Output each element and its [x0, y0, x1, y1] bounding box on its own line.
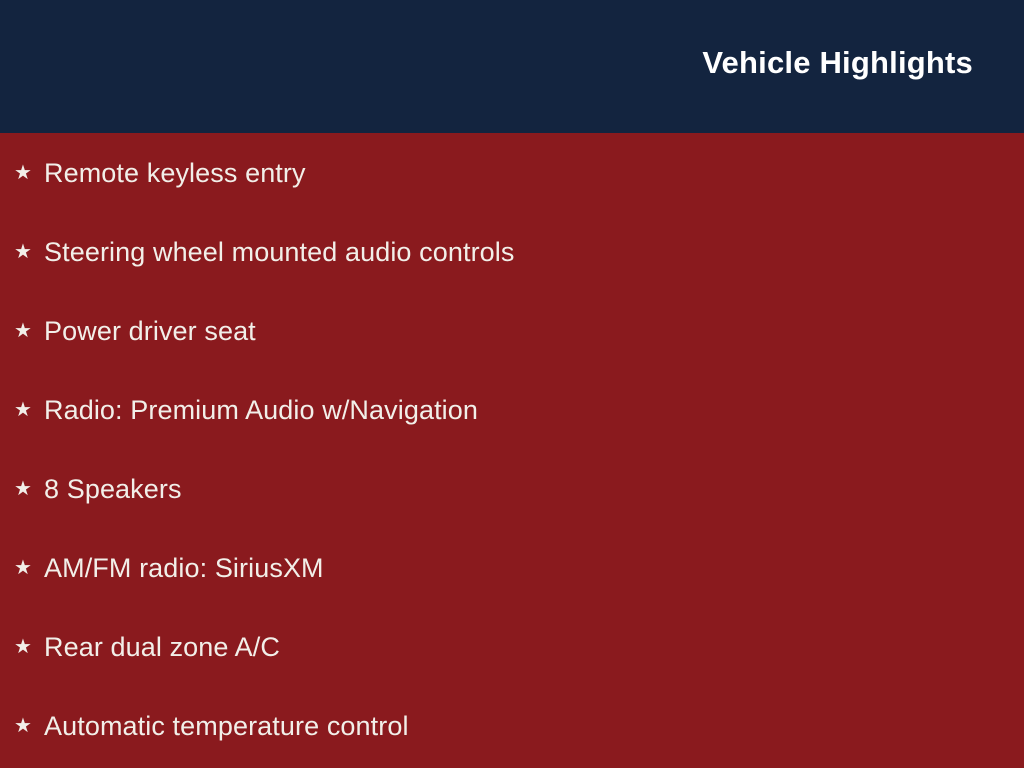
page-title: Vehicle Highlights — [702, 44, 973, 82]
highlights-list: ★ Remote keyless entry ★ Steering wheel … — [0, 133, 1024, 765]
list-item-label: Automatic temperature control — [44, 709, 409, 743]
star-bullet-icon: ★ — [14, 163, 44, 183]
list-item: ★ Steering wheel mounted audio controls — [0, 212, 1024, 291]
list-item: ★ Remote keyless entry — [0, 133, 1024, 212]
list-item-label: Power driver seat — [44, 314, 256, 348]
star-bullet-icon: ★ — [14, 637, 44, 657]
list-item-label: Rear dual zone A/C — [44, 630, 280, 664]
star-bullet-icon: ★ — [14, 558, 44, 578]
highlights-body: ★ Remote keyless entry ★ Steering wheel … — [0, 133, 1024, 768]
list-item-label: AM/FM radio: SiriusXM — [44, 551, 324, 585]
list-item-label: Remote keyless entry — [44, 156, 306, 190]
list-item: ★ Rear dual zone A/C — [0, 607, 1024, 686]
star-bullet-icon: ★ — [14, 321, 44, 341]
vehicle-highlights-slide: Vehicle Highlights ★ Remote keyless entr… — [0, 0, 1024, 768]
header-band: Vehicle Highlights — [0, 0, 1024, 133]
list-item: ★ Power driver seat — [0, 291, 1024, 370]
star-bullet-icon: ★ — [14, 716, 44, 736]
list-item: ★ Radio: Premium Audio w/Navigation — [0, 370, 1024, 449]
star-bullet-icon: ★ — [14, 479, 44, 499]
star-bullet-icon: ★ — [14, 242, 44, 262]
list-item-label: Steering wheel mounted audio controls — [44, 235, 515, 269]
list-item: ★ AM/FM radio: SiriusXM — [0, 528, 1024, 607]
list-item: ★ Automatic temperature control — [0, 686, 1024, 765]
star-bullet-icon: ★ — [14, 400, 44, 420]
list-item-label: Radio: Premium Audio w/Navigation — [44, 393, 478, 427]
list-item-label: 8 Speakers — [44, 472, 182, 506]
list-item: ★ 8 Speakers — [0, 449, 1024, 528]
